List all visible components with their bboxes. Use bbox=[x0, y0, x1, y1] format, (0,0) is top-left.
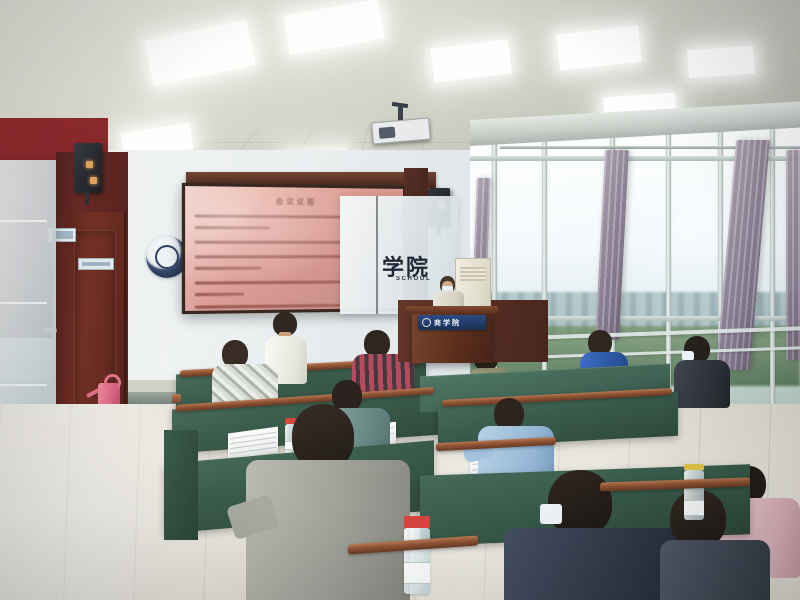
bench-rail-end bbox=[172, 394, 181, 403]
display-shelf bbox=[0, 302, 47, 304]
attendee-face-mask bbox=[540, 504, 562, 524]
display-shelf bbox=[0, 220, 47, 222]
speaker-indicator-light bbox=[90, 177, 97, 184]
wall-speaker-left bbox=[74, 143, 102, 193]
window-mullion bbox=[770, 120, 775, 420]
ac-vent bbox=[460, 267, 486, 281]
bottle-label bbox=[684, 500, 704, 516]
attendee-head bbox=[364, 330, 390, 357]
sign-divider bbox=[376, 196, 378, 314]
attendee-head bbox=[548, 470, 612, 536]
attendee-torso bbox=[674, 360, 730, 408]
bottle-label bbox=[404, 562, 430, 584]
water-bottle bbox=[404, 528, 430, 594]
attendee-torso bbox=[504, 528, 680, 600]
door-name-plate bbox=[78, 258, 114, 270]
emblem-glyph bbox=[159, 250, 175, 264]
ceiling-light-panel bbox=[687, 46, 755, 79]
bottle-cap bbox=[404, 516, 430, 528]
projector-mount bbox=[398, 105, 403, 121]
podium-top-surface bbox=[406, 306, 498, 314]
school-sign-english: SCHOOL bbox=[396, 276, 431, 282]
podium-nameplate: 商学院 bbox=[418, 315, 486, 330]
lecture-hall-photo: 会议议程 学院 SCHOOL bbox=[0, 0, 800, 600]
bench-end-panel bbox=[164, 430, 198, 540]
display-shelf bbox=[0, 384, 47, 386]
attendee-torso bbox=[246, 460, 410, 600]
speaker-indicator-light bbox=[86, 161, 93, 168]
circular-school-emblem bbox=[422, 318, 431, 327]
water-bottle bbox=[684, 470, 704, 520]
speaker-mount-stem bbox=[85, 191, 89, 205]
attendee-torso bbox=[660, 540, 770, 600]
bottle-cap bbox=[684, 464, 704, 470]
podium-sign-text: 商学院 bbox=[434, 318, 461, 328]
